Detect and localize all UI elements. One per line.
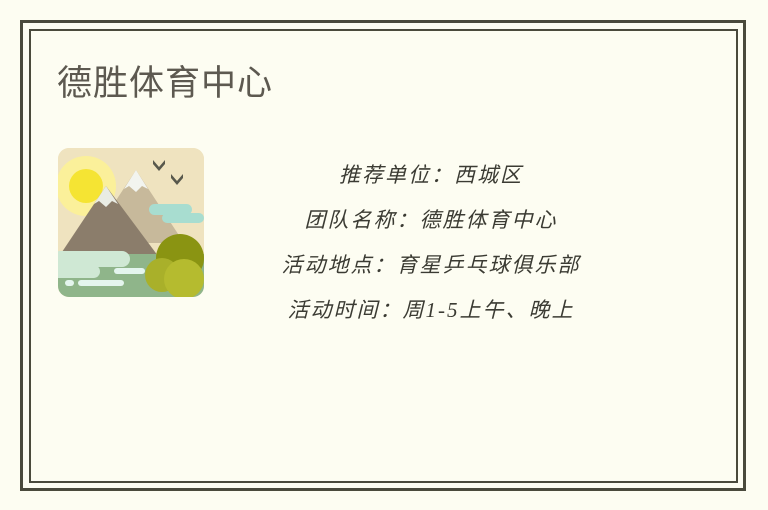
info-line-location: 活动地点：育星乒乓球俱乐部 bbox=[229, 243, 633, 288]
card-content: 德胜体育中心 bbox=[29, 29, 738, 483]
certificate-page: 德胜体育中心 bbox=[0, 0, 768, 510]
info-line-schedule: 活动时间：周1-5上午、晚上 bbox=[229, 288, 633, 333]
sun-core bbox=[69, 169, 103, 203]
info-line-recommender: 推荐单位：西城区 bbox=[229, 153, 633, 198]
water-foam bbox=[58, 251, 130, 267]
page-title: 德胜体育中心 bbox=[57, 62, 273, 106]
water-foam bbox=[58, 265, 100, 278]
wave-line bbox=[78, 280, 124, 286]
landscape-illustration bbox=[58, 148, 204, 297]
landscape-illustration-svg bbox=[58, 148, 204, 297]
cloud-shape bbox=[162, 213, 204, 223]
wave-line bbox=[114, 268, 145, 274]
info-block: 推荐单位：西城区 团队名称：德胜体育中心 活动地点：育星乒乓球俱乐部 活动时间：… bbox=[229, 153, 633, 333]
info-line-team-name: 团队名称：德胜体育中心 bbox=[229, 198, 633, 243]
wave-line bbox=[65, 280, 74, 286]
